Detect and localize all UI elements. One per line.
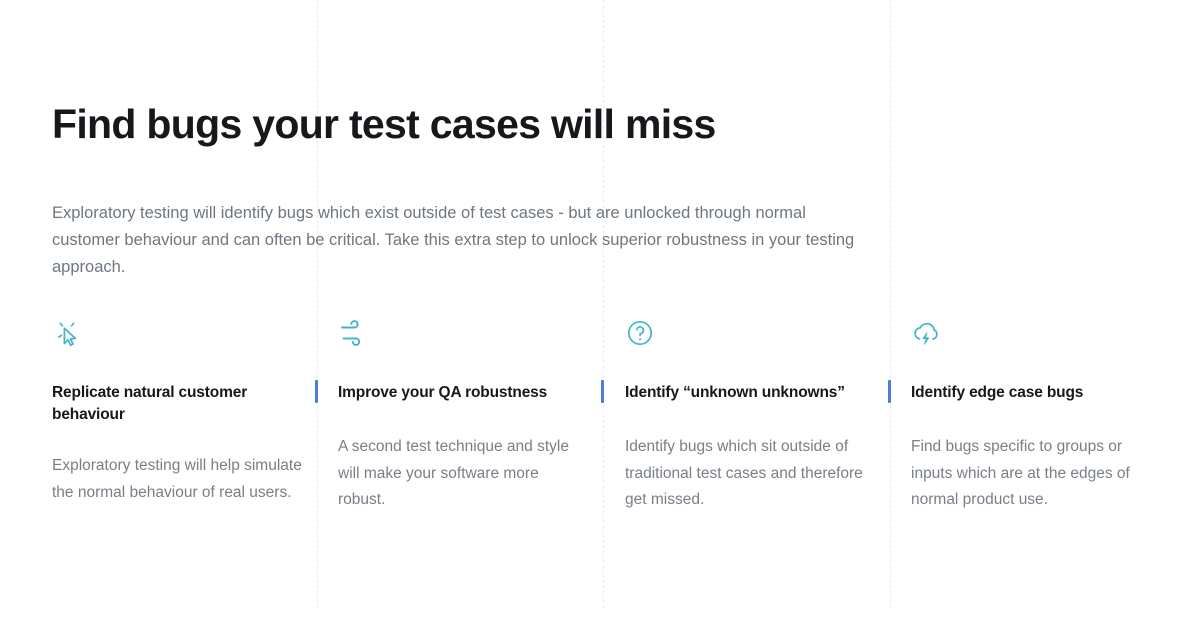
feature-description: Exploratory testing will help simulate t…	[52, 453, 302, 506]
cloud-lightning-icon	[911, 318, 1161, 352]
feature-description: Find bugs specific to groups or inputs w…	[911, 434, 1161, 514]
wind-icon	[338, 318, 588, 352]
feature-column-2: Improve your QA robustness A second test…	[338, 318, 588, 514]
feature-column-1: Replicate natural customer behaviour Exp…	[52, 318, 302, 506]
feature-title: Identify “unknown unknowns”	[625, 382, 875, 408]
page-title: Find bugs your test cases will miss	[52, 100, 952, 148]
feature-title: Improve your QA robustness	[338, 382, 588, 408]
cursor-click-icon	[52, 318, 302, 352]
feature-title: Identify edge case bugs	[911, 382, 1161, 408]
marketing-feature-section: Find bugs your test cases will miss Expl…	[0, 0, 1200, 630]
feature-title: Replicate natural customer behaviour	[52, 382, 302, 427]
feature-description: A second test technique and style will m…	[338, 434, 588, 514]
accent-bar-3	[888, 380, 891, 403]
feature-column-3: Identify “unknown unknowns” Identify bug…	[625, 318, 875, 514]
intro-paragraph: Exploratory testing will identify bugs w…	[52, 200, 862, 282]
accent-bar-1	[315, 380, 318, 403]
question-circle-icon	[625, 318, 875, 352]
feature-column-4: Identify edge case bugs Find bugs specif…	[911, 318, 1161, 514]
feature-description: Identify bugs which sit outside of tradi…	[625, 434, 875, 514]
feature-columns: Replicate natural customer behaviour Exp…	[0, 318, 1200, 598]
accent-bar-2	[601, 380, 604, 403]
